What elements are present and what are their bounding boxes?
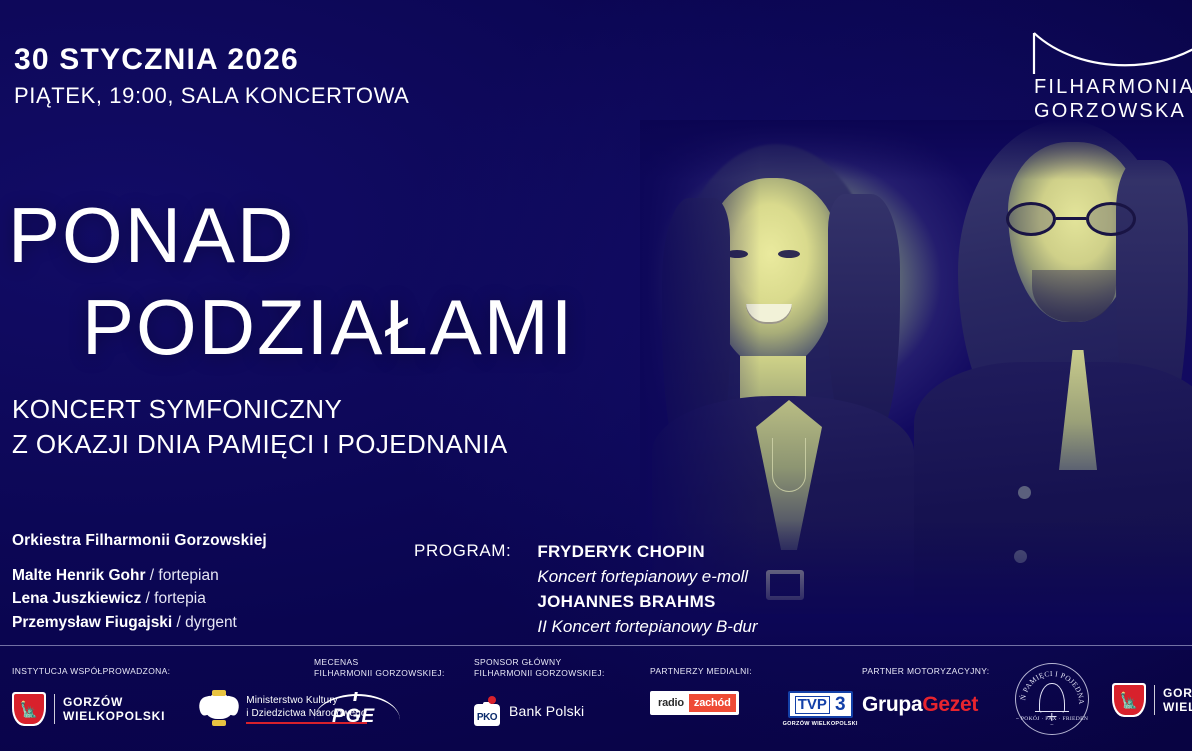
eagle-legs xyxy=(212,720,226,726)
tvp3-box: TVP 3 xyxy=(788,691,853,718)
filharmonia-name-line2: GORZOWSKA xyxy=(1034,100,1192,124)
woman-eye-right xyxy=(778,250,800,258)
program-work: II Koncert fortepianowy B-dur xyxy=(537,615,757,640)
crest-eagle-icon: 🗽 xyxy=(1120,693,1139,708)
sponsor-group-label: PARTNERZY MEDIALNI: xyxy=(650,666,858,677)
sponsor-group-mecenas: MECENAS FILHARMONII GORZOWSKIEJ: PGE xyxy=(314,657,445,732)
sponsor-group-partnerzy-medialni: PARTNERZY MEDIALNI: radio zachód TVP 3 G… xyxy=(650,666,858,729)
gorzow-line2: WIELKOPOLSKI xyxy=(1163,700,1192,714)
radio-zachod-logo[interactable]: radio zachód xyxy=(650,691,739,715)
dzien-pamieci-emblem[interactable]: DZIEŃ PAMIĘCI I POJEDNANIA ~ POKÓJ · PAX… xyxy=(1015,663,1089,735)
program-composer: FRYDERYK CHOPIN xyxy=(537,540,757,565)
sponsor-group-sponsor-glowny: SPONSOR GŁÓWNY FILHARMONII GORZOWSKIEJ: … xyxy=(474,657,605,726)
sponsor-group-label: MECENAS FILHARMONII GORZOWSKIEJ: xyxy=(314,657,445,680)
logo-separator xyxy=(1154,685,1155,715)
polish-eagle-icon xyxy=(199,691,239,727)
title-line-1: PONAD xyxy=(8,191,295,279)
tvp3-number: 3 xyxy=(835,695,846,714)
filharmonia-name-line1: FILHARMONIA xyxy=(1034,76,1192,100)
poster-subtitle: KONCERT SYMFONICZNY Z OKAZJI DNIA PAMIĘC… xyxy=(12,392,508,462)
glasses-lens-right xyxy=(1086,202,1136,236)
event-date: 30 STYCZNIA 2026 xyxy=(14,44,409,76)
gorzow-crest-icon: 🗽 xyxy=(1112,683,1146,717)
photo-fade-top xyxy=(640,120,1192,180)
gorzow-line1: GORZÓW xyxy=(1163,686,1192,700)
sponsor-group-label: PARTNER MOTORYZACYJNY: xyxy=(862,666,990,677)
pko-red-dot xyxy=(488,696,496,704)
event-details: PIĄTEK, 19:00, SALA KONCERTOWA xyxy=(14,83,409,109)
gorzow-line2: WIELKOPOLSKI xyxy=(63,709,165,723)
woman-necklace xyxy=(772,438,806,492)
sponsor-logo-row: PGE xyxy=(314,692,445,732)
program-composer: JOHANNES BRAHMS xyxy=(537,590,757,615)
glasses-lens-left xyxy=(1006,202,1056,236)
performer-role: / fortepia xyxy=(141,590,206,607)
logo-separator xyxy=(54,694,55,724)
gorzow-logo-text: GORZÓW WIELKOPOLSKI xyxy=(1163,686,1192,715)
bell-emblem-icon: DZIEŃ PAMIĘCI I POJEDNANIA ~ POKÓJ · PAX… xyxy=(1015,663,1089,735)
performer-row: Lena Juszkiewicz / fortepia xyxy=(12,591,267,607)
performer-name: Przemysław Fiugajski xyxy=(12,614,172,631)
credits-block: Orkiestra Filharmonii Gorzowskiej Malte … xyxy=(12,533,267,638)
coat-button-top xyxy=(1018,486,1031,499)
program-block: PROGRAM: FRYDERYK CHOPIN Koncert fortepi… xyxy=(414,540,758,640)
gorzow-wielkopolski-logo[interactable]: 🗽 GORZÓW WIELKOPOLSKI xyxy=(12,692,165,726)
tvp3-caption: GORZÓW WIELKOPOLSKI xyxy=(783,721,858,728)
emblem-bottom-text: ~ POKÓJ · PAX · FRIEDEN ~ xyxy=(1015,716,1089,728)
program-label: PROGRAM: xyxy=(414,540,511,640)
performer-role: / dyrgent xyxy=(172,614,237,631)
tvp3-logo[interactable]: TVP 3 GORZÓW WIELKOPOLSKI xyxy=(783,691,858,728)
tvp3-letters: TVP xyxy=(795,696,830,714)
poster-title: PONAD PODZIAŁAMI xyxy=(8,196,574,366)
program-entries: FRYDERYK CHOPIN Koncert fortepianowy e-m… xyxy=(537,540,757,640)
sponsor-logo-row: PKO Bank Polski xyxy=(474,696,605,726)
performer-name: Lena Juszkiewicz xyxy=(12,590,141,607)
performer-row: Przemysław Fiugajski / dyrgent xyxy=(12,615,267,631)
eagle-crown xyxy=(212,690,226,696)
sponsor-logo-row: radio zachód TVP 3 GORZÓW WIELKOPOLSKI xyxy=(650,691,858,728)
gezet-part2: Gezet xyxy=(922,693,978,716)
filharmonia-swoosh-icon xyxy=(1020,30,1192,76)
pge-text: PGE xyxy=(332,706,375,728)
performer-role: / fortepian xyxy=(146,567,219,584)
gorzow-logo-text: GORZÓW WIELKOPOLSKI xyxy=(63,695,165,724)
event-date-block: 30 STYCZNIA 2026 PIĄTEK, 19:00, SALA KON… xyxy=(14,44,409,109)
gorzow-crest-icon: 🗽 xyxy=(12,692,46,726)
radio-zachod-part1: radio xyxy=(653,694,689,712)
pko-bank-polski-logo[interactable]: PKO Bank Polski xyxy=(474,696,584,726)
performer-row: Malte Henrik Gohr / fortepian xyxy=(12,568,267,584)
filharmonia-gorzowska-logo[interactable]: FILHARMONIA GORZOWSKA xyxy=(1020,30,1192,123)
glasses-bridge xyxy=(1056,217,1086,220)
glasses-icon xyxy=(998,202,1150,236)
performer-name: Malte Henrik Gohr xyxy=(12,567,146,584)
sponsors-footer: INSTYTUCJA WSPÓŁPROWADZONA: 🗽 GORZÓW WIE… xyxy=(0,646,1192,751)
subtitle-line-2: Z OKAZJI DNIA PAMIĘCI I POJEDNANIA xyxy=(12,427,508,462)
sponsor-group-partner-motoryzacyjny: PARTNER MOTORYZACYJNY: GrupaGezet xyxy=(862,666,990,717)
sponsor-logo-row: GrupaGezet xyxy=(862,693,990,717)
concert-poster: 30 STYCZNIA 2026 PIĄTEK, 19:00, SALA KON… xyxy=(0,0,1192,751)
pko-letters: PKO xyxy=(474,713,500,723)
pge-logo[interactable]: PGE xyxy=(314,692,400,732)
crest-eagle-icon: 🗽 xyxy=(20,703,39,718)
orchestra-name: Orkiestra Filharmonii Gorzowskiej xyxy=(12,533,267,549)
pko-bank-text: Bank Polski xyxy=(509,703,584,719)
title-line-2: PODZIAŁAMI xyxy=(82,288,574,366)
grupa-gezet-logo[interactable]: GrupaGezet xyxy=(862,693,978,717)
pko-mark-icon: PKO xyxy=(474,696,500,726)
radio-zachod-part2: zachód xyxy=(689,694,736,712)
program-work: Koncert fortepianowy e-moll xyxy=(537,565,757,590)
eagle-body xyxy=(205,693,233,719)
gorzow-line1: GORZÓW xyxy=(63,695,165,709)
gezet-part1: Grupa xyxy=(862,693,922,716)
sponsor-group-label: SPONSOR GŁÓWNY FILHARMONII GORZOWSKIEJ: xyxy=(474,657,605,680)
subtitle-line-1: KONCERT SYMFONICZNY xyxy=(12,392,508,427)
gorzow-wielkopolski-logo-right[interactable]: 🗽 GORZÓW WIELKOPOLSKI xyxy=(1112,683,1192,717)
